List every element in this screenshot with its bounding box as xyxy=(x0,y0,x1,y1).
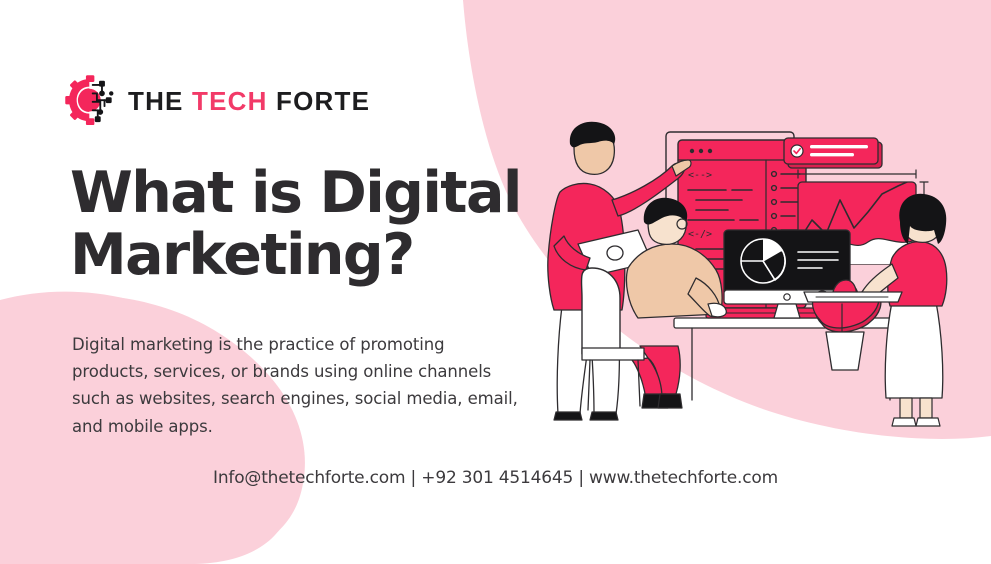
svg-text:<-/>: <-/> xyxy=(688,229,712,240)
body-paragraph: Digital marketing is the practice of pro… xyxy=(72,331,522,440)
brand-logo[interactable]: THE TECH FORTE xyxy=(64,74,370,128)
brand-name: THE TECH FORTE xyxy=(128,86,370,117)
page-title: What is Digital Marketing? xyxy=(70,163,540,286)
svg-text:<-->: <--> xyxy=(688,170,712,181)
gear-circuit-icon xyxy=(64,74,118,128)
notification-card xyxy=(784,138,882,168)
check-circle-icon xyxy=(791,145,803,157)
footer-contact-line[interactable]: Info@thetechforte.com | +92 301 4514645 … xyxy=(0,468,991,488)
digital-marketing-team-illustration: <--> <-/> xyxy=(520,118,991,448)
brand-name-accent: TECH xyxy=(192,86,268,116)
poster-canvas: THE TECH FORTE What is Digital Marketing… xyxy=(0,0,991,564)
brand-name-part1: THE xyxy=(128,86,192,116)
brand-name-part2: FORTE xyxy=(268,86,371,116)
